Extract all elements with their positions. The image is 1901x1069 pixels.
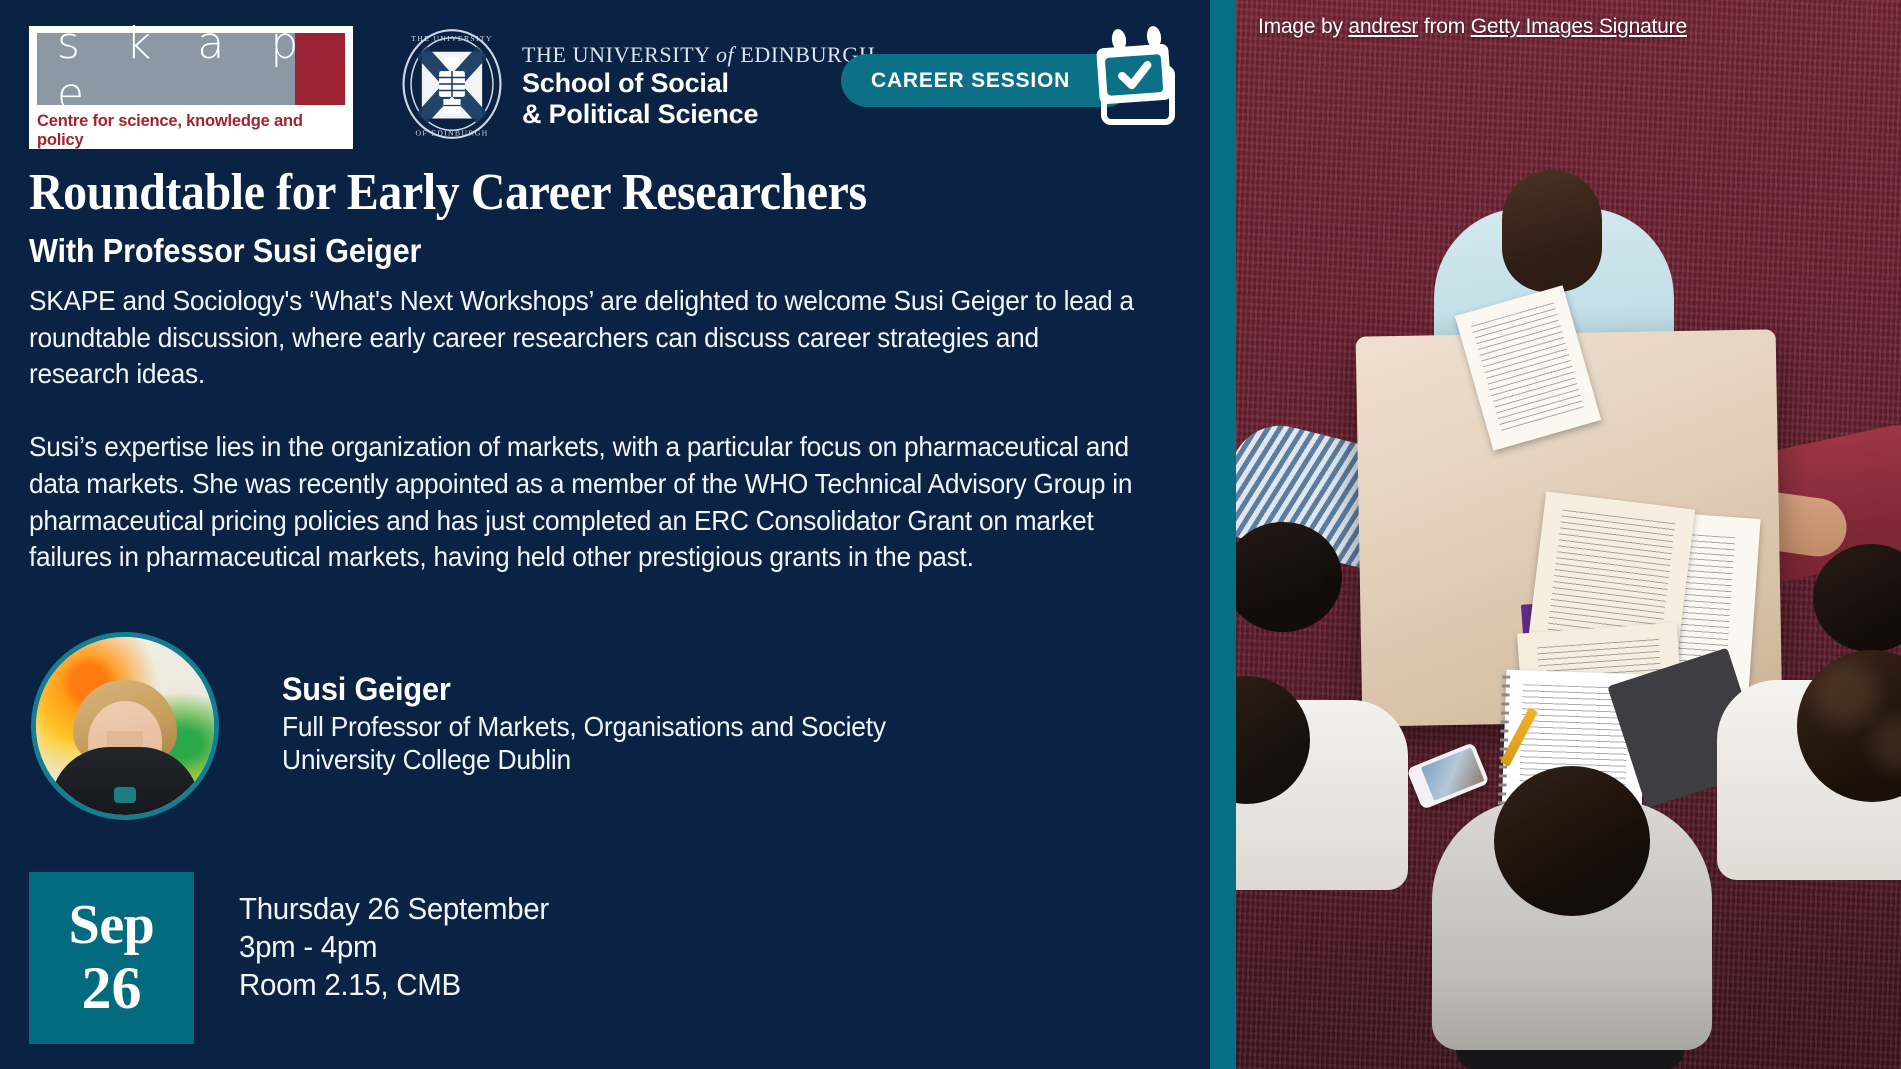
students-roundtable-discussion-photo: Image by andresr from Getty Images Signa…: [1236, 0, 1901, 1069]
date-month: Sep: [69, 897, 155, 953]
person-top-head: [1502, 170, 1602, 292]
svg-text:THE UNIVERSITY: THE UNIVERSITY: [411, 34, 493, 43]
speaker-role: Full Professor of Markets, Organisations…: [282, 710, 886, 743]
school-name-line-2: & Political Science: [522, 99, 875, 130]
skape-wordmark: s k a p e: [37, 33, 345, 105]
person-bottom-head: [1494, 766, 1650, 916]
date-day: 26: [82, 957, 142, 1020]
person-right-lower: [1697, 640, 1901, 910]
image-credit-source-link[interactable]: Getty Images Signature: [1471, 15, 1687, 38]
calendar-check-icon: [1092, 24, 1184, 128]
image-credit-middle: from: [1418, 15, 1470, 38]
skape-red-block: [295, 33, 345, 105]
speaker-necklace: [114, 787, 136, 803]
date-chip: Sep 26: [29, 872, 194, 1044]
speaker-name: Susi Geiger: [282, 671, 886, 708]
event-date-block: Sep 26 Thursday 26 September 3pm - 4pm R…: [29, 872, 565, 1044]
book-text-lines: [1472, 302, 1585, 433]
skape-logo: s k a p e Centre for science, knowledge …: [29, 26, 353, 149]
school-name-line-1: School of Social: [522, 68, 875, 99]
person-left-upper-head: [1236, 522, 1342, 632]
university-of-edinburgh-crest: THE UNIVERSITY OF EDINBURGH: [398, 28, 506, 140]
event-location-line: Room 2.15, CMB: [239, 966, 549, 1004]
svg-text:OF EDINBURGH: OF EDINBURGH: [416, 129, 489, 138]
speaker-details: Susi Geiger Full Professor of Markets, O…: [282, 671, 911, 782]
poster-title: Roundtable for Early Career Researchers: [29, 166, 1096, 221]
university-title-of: of: [716, 42, 734, 67]
image-credit-author-link[interactable]: andresr: [1348, 15, 1418, 38]
event-details: Thursday 26 September 3pm - 4pm Room 2.1…: [239, 872, 565, 1004]
description-paragraph-2: Susi’s expertise lies in the organizatio…: [29, 429, 1137, 575]
university-title-prefix: THE UNIVERSITY: [522, 42, 716, 67]
speaker-avatar: [31, 632, 219, 820]
poster-header: s k a p e Centre for science, knowledge …: [0, 0, 1210, 150]
poster-description: SKAPE and Sociology's ‘What's Next Works…: [29, 283, 1137, 576]
poster-subtitle: With Professor Susi Geiger: [29, 232, 1108, 270]
teal-divider: [1210, 0, 1236, 1069]
person-bottom: [1422, 760, 1722, 1060]
university-name-block: THE UNIVERSITY of EDINBURGH School of So…: [522, 38, 875, 130]
event-date-line: Thursday 26 September: [239, 890, 549, 928]
event-poster: s k a p e Centre for science, knowledge …: [0, 0, 1901, 1069]
career-session-label: CAREER SESSION: [871, 69, 1070, 93]
image-credit-prefix: Image by: [1258, 15, 1348, 38]
event-time-line: 3pm - 4pm: [239, 928, 549, 966]
speaker-block: Susi Geiger Full Professor of Markets, O…: [31, 632, 911, 820]
person-left-lower: [1236, 660, 1428, 900]
image-credit: Image by andresr from Getty Images Signa…: [1258, 15, 1687, 39]
university-title-line: THE UNIVERSITY of EDINBURGH: [522, 42, 875, 68]
description-paragraph-1: SKAPE and Sociology's ‘What's Next Works…: [29, 283, 1137, 393]
left-content-panel: s k a p e Centre for science, knowledge …: [0, 0, 1210, 1069]
career-session-badge: CAREER SESSION: [841, 54, 1132, 107]
speaker-organisation: University College Dublin: [282, 743, 886, 776]
university-of-edinburgh-logo: THE UNIVERSITY OF EDINBURGH THE UNIVERSI…: [398, 28, 875, 140]
